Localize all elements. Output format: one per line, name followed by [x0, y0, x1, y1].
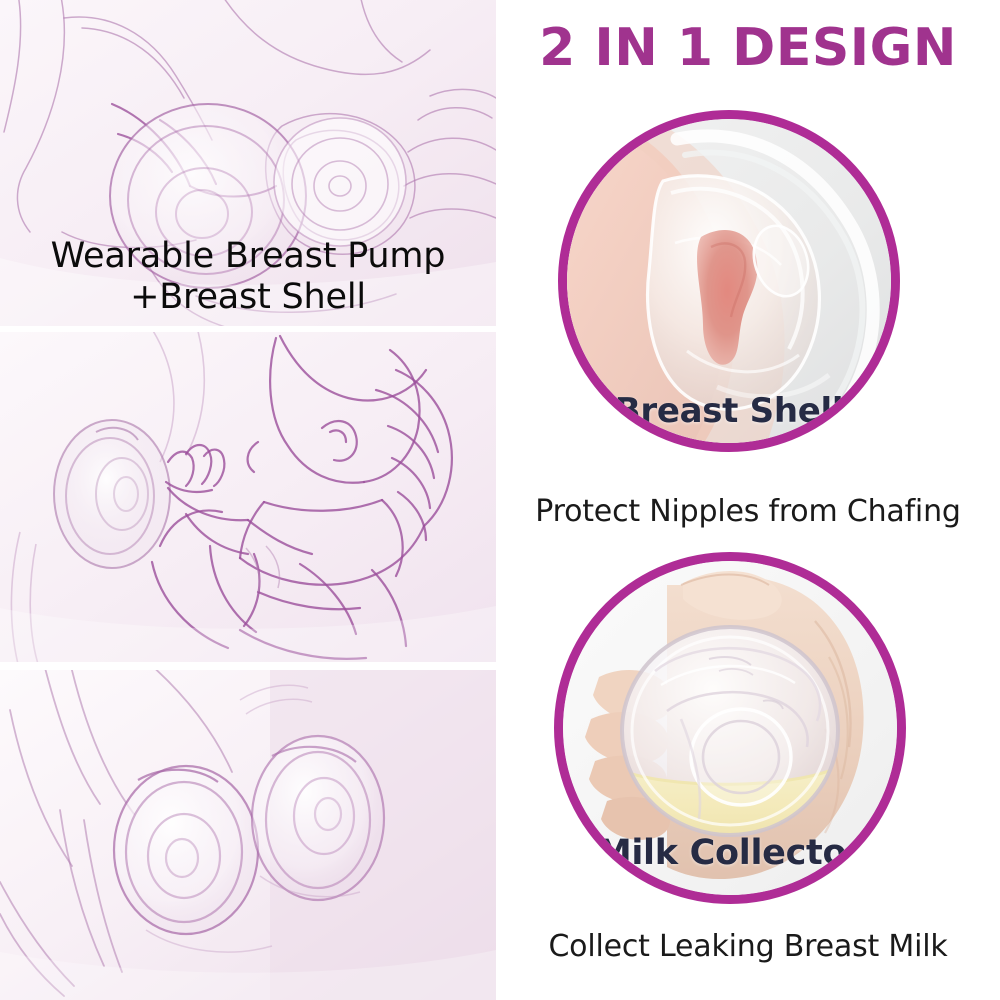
feeding-illustration: [0, 332, 496, 662]
feature-badge-breast-shell: Breast Shell: [558, 110, 900, 452]
badge-label-milk-collector: Milk Collector: [563, 833, 897, 873]
product-feature-graphic: Wearable Breast Pump +Breast Shell: [0, 0, 1000, 1000]
badge-caption-breast-shell: Protect Nipples from Chafing: [496, 494, 1000, 529]
page-title: 2 IN 1 DESIGN: [496, 20, 1000, 77]
panel-wearable-pump: Wearable Breast Pump +Breast Shell: [0, 0, 496, 326]
panel-caption-wearable-pump: Wearable Breast Pump +Breast Shell: [0, 236, 496, 319]
badge-caption-milk-collector: Collect Leaking Breast Milk: [496, 929, 1000, 964]
right-feature-column: 2 IN 1 DESIGN: [496, 0, 1000, 1000]
panel-two-shells: 2 Breast Shells: [0, 670, 496, 1000]
breast-shell-circle-frame: Breast Shell: [558, 110, 900, 452]
left-illustration-column: Wearable Breast Pump +Breast Shell: [0, 0, 496, 1000]
badge-label-breast-shell: Breast Shell: [567, 391, 891, 431]
feature-badge-milk-collector: Milk Collector: [554, 552, 906, 904]
panel-feeding: Feeding+Breast Shell: [0, 332, 496, 662]
milk-collector-circle-frame: Milk Collector: [554, 552, 906, 904]
two-shells-illustration: [0, 670, 496, 1000]
